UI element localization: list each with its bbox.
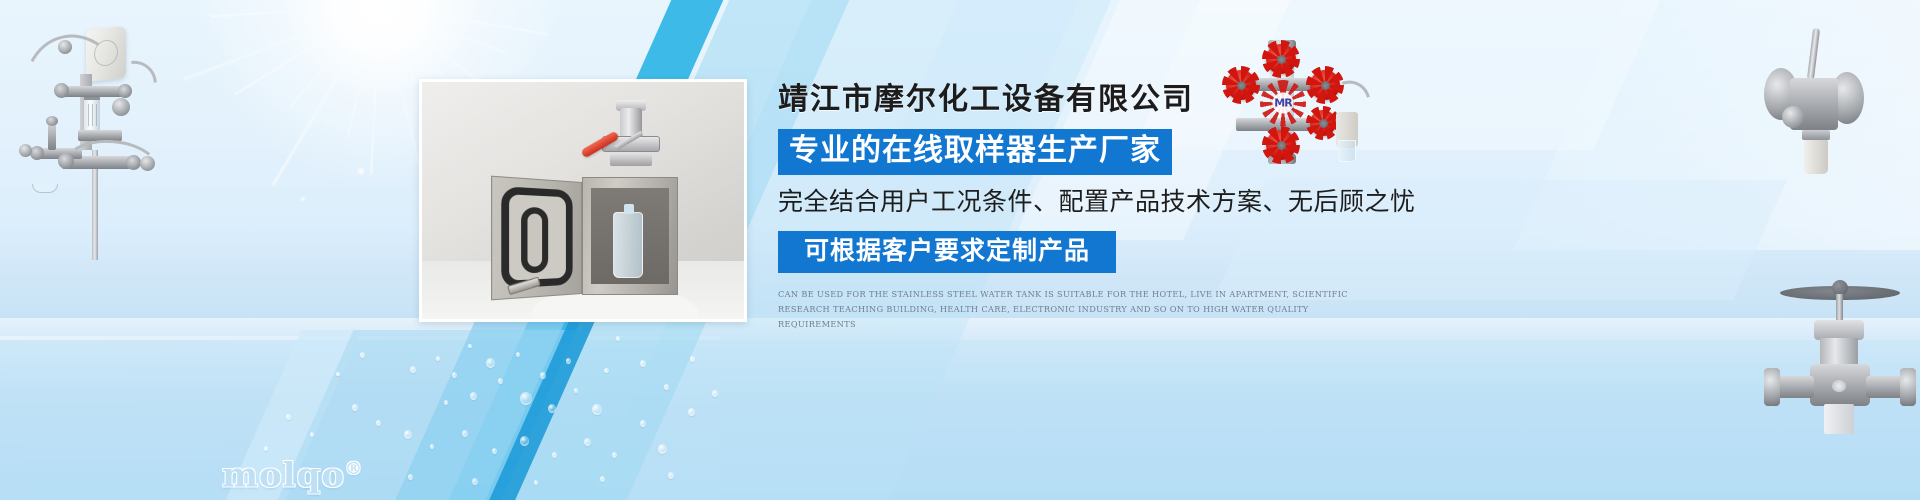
flange-icon [1900, 368, 1916, 406]
water-droplet-icon [286, 414, 291, 420]
water-droplet-icon [376, 420, 381, 426]
water-droplet-icon [658, 444, 667, 454]
water-droplet-icon [640, 420, 646, 427]
water-droplet-icon [498, 378, 503, 384]
water-droplet-icon [444, 400, 448, 405]
bonnet-icon [1814, 320, 1864, 340]
right-equipment-handwheel-valve [1756, 250, 1916, 430]
water-droplet-icon [360, 352, 365, 358]
water-droplet-icon [336, 372, 340, 376]
flange-icon [1764, 368, 1780, 406]
water-droplet-icon [584, 438, 591, 446]
valve-flange-lower-icon [610, 154, 652, 166]
water-droplet-icon [408, 474, 413, 480]
water-droplet-icon [468, 344, 472, 348]
cabinet-door [491, 176, 582, 301]
water-droplet-icon [472, 478, 478, 485]
promo-banner: 靖江市摩尔化工设备有限公司 专业的在线取样器生产厂家 完全结合用户工况条件、配置… [0, 0, 1920, 500]
water-droplet-icon [574, 388, 578, 393]
water-droplet-icon [548, 404, 556, 413]
red-handwheel-icon [1266, 130, 1296, 160]
water-droplet-icon [604, 368, 609, 373]
water-droplet-icon [552, 452, 557, 458]
right-equipment-valve-tree: MR [1218, 36, 1378, 166]
water-droplet-icon [668, 472, 674, 479]
water-droplet-icon [616, 336, 620, 341]
registered-trademark-icon: ® [345, 459, 362, 479]
water-droplet-icon [404, 430, 412, 439]
valve-port-icon [1782, 106, 1804, 128]
valve-bottom-cap-icon [1802, 130, 1830, 140]
water-droplet-icon [664, 384, 669, 390]
water-droplet-icon [462, 430, 468, 437]
sub-headline: 完全结合用户工况条件、配置产品技术方案、无后顾之忧 [778, 186, 1398, 218]
right-equipment-lever-valve-group [1758, 28, 1908, 188]
valve-tag-icon [1832, 380, 1846, 392]
water-droplet-icon [540, 372, 546, 379]
water-droplet-icon [612, 452, 617, 458]
sample-bottle-icon [613, 212, 643, 278]
pipe-left-icon [1774, 376, 1814, 398]
product-photo [419, 79, 747, 322]
water-droplet-icon [452, 372, 457, 378]
water-droplet-icon [486, 358, 495, 368]
sparkle-icon [356, 166, 366, 176]
left-equipment-illustration [0, 0, 200, 300]
sample-beaker-icon [32, 184, 58, 193]
water-droplet-icon [492, 448, 497, 454]
water-droplet-icon [688, 408, 695, 416]
water-droplet-icon [470, 392, 477, 400]
english-description: CAN BE USED FOR THE STAINLESS STEEL WATE… [778, 287, 1378, 332]
sample-bottle-glass-icon [1338, 140, 1356, 162]
flange-icon [19, 144, 32, 157]
water-droplet-icon [352, 404, 358, 411]
water-droplet-icon [430, 444, 434, 449]
sparkle-icon [300, 196, 306, 202]
water-droplet-icon [534, 480, 538, 485]
door-window [521, 207, 548, 274]
water-droplet-icon [410, 366, 416, 373]
brand-logo-text: molqo [222, 455, 345, 495]
water-droplet-icon [566, 358, 571, 364]
water-droplet-icon [690, 356, 695, 362]
sampler-cabinet-body [582, 177, 678, 295]
water-droplet-icon [310, 432, 314, 437]
water-droplet-icon [264, 446, 268, 451]
red-handwheel-icon [1226, 70, 1256, 100]
customization-badge: 可根据客户要求定制产品 [778, 231, 1116, 273]
water-droplet-icon [520, 436, 529, 446]
water-droplet-icon [592, 404, 602, 415]
water-droplet-icon [436, 356, 440, 361]
quality-seal-icon: MR [1260, 80, 1306, 126]
seal-label: MR [1274, 97, 1291, 110]
lever-handle-icon [1807, 28, 1820, 80]
sample-bottle-icon [1804, 140, 1828, 174]
brand-logo: molqo® [222, 452, 362, 492]
water-droplet-icon [712, 390, 718, 397]
headline-badge: 专业的在线取样器生产厂家 [778, 129, 1172, 175]
lower-bottle-icon [1824, 404, 1854, 434]
water-droplet-icon [600, 476, 605, 482]
handwheel-icon [30, 146, 44, 160]
sampler-valve-assembly [596, 100, 668, 182]
red-handwheel-icon [1266, 44, 1296, 74]
tubing-icon [60, 137, 162, 202]
water-droplet-icon [516, 352, 520, 357]
water-droplet-icon [640, 360, 646, 367]
water-droplet-icon [520, 392, 532, 405]
